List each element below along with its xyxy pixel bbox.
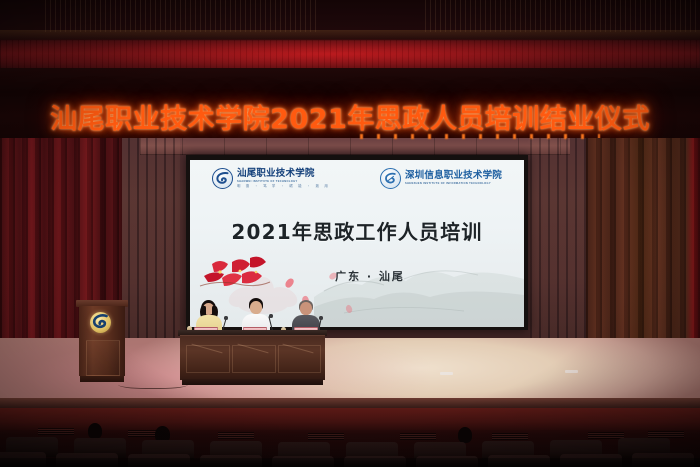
- shanwei-motto: 明 德 ・ 笃 学 ・ 砺 能 ・ 致 用: [237, 184, 330, 188]
- slide-title: 2021年思政工作人员培训: [190, 216, 524, 245]
- microphone-head: [269, 314, 273, 318]
- speaker-podium: [79, 300, 125, 384]
- banner-title-text: 汕尾职业技术学院2021年思政人员培训结业仪式: [50, 97, 650, 136]
- wall-grille: [38, 428, 74, 435]
- shenzhen-logo-text: 深圳信息职业技术学院 SHENZHEN INSTITUTE OF INFORMA…: [405, 171, 502, 185]
- ceiling-slat-panel-right: [425, 0, 700, 32]
- audience-row-shadow: [0, 458, 700, 467]
- logo-shenzhen-institute: 深圳信息职业技术学院 SHENZHEN INSTITUTE OF INFORMA…: [380, 168, 502, 189]
- wall-grille: [400, 433, 436, 440]
- led-banner: 汕尾职业技术学院2021年思政人员培训结业仪式: [0, 92, 700, 140]
- stage-curtain-right-folds: [586, 138, 700, 370]
- table-base: [182, 379, 323, 385]
- wall-grille: [648, 431, 684, 438]
- ceiling-soffit: [0, 30, 700, 40]
- shenzhen-name-cn: 深圳信息职业技术学院: [405, 171, 502, 181]
- floor-vent: [565, 370, 578, 373]
- shanwei-logo-text: 汕尾职业技术学院 SHANWEI INSTITUTE OF TECHNOLOGY…: [237, 169, 330, 188]
- podium-front-panel: [86, 340, 120, 376]
- ceiling-red-band-texture: [0, 40, 700, 70]
- podium-cable: [118, 378, 188, 389]
- podium-base: [80, 376, 124, 382]
- audience-head: [88, 423, 102, 439]
- back-wall-panel-seams: [140, 138, 570, 155]
- table-front-panel: [180, 335, 325, 380]
- crest-swoosh-glyph-icon: [90, 312, 111, 333]
- inner-curtain-right: [530, 138, 594, 343]
- shenzhen-name-en: SHENZHEN INSTITUTE OF INFORMATION TECHNO…: [405, 182, 502, 185]
- audience-head: [458, 427, 472, 443]
- slide-logo-row: 汕尾职业技术学院 SHANWEI INSTITUTE OF TECHNOLOGY…: [190, 168, 524, 189]
- shanwei-emblem-icon: [212, 168, 233, 189]
- podium-body: [79, 306, 125, 376]
- shanwei-name-cn: 汕尾职业技术学院: [237, 169, 330, 179]
- projection-screen: 汕尾职业技术学院 SHANWEI INSTITUTE OF TECHNOLOGY…: [190, 160, 524, 327]
- logo-shanwei-institute: 汕尾职业技术学院 SHANWEI INSTITUTE OF TECHNOLOGY…: [212, 168, 330, 189]
- microphone-head: [319, 316, 323, 320]
- floor-vent: [440, 372, 453, 375]
- microphone-head: [224, 316, 228, 320]
- head: [250, 301, 262, 314]
- head: [300, 302, 312, 315]
- swoosh-glyph-icon: [216, 172, 229, 186]
- auditorium-scene: 汕尾职业技术学院2021年思政人员培训结业仪式: [0, 0, 700, 467]
- swoosh-glyph-icon: [384, 172, 397, 186]
- shenzhen-emblem-icon: [380, 168, 401, 189]
- wall-grille: [492, 433, 528, 440]
- ceiling-slat-panel-left: [45, 0, 320, 32]
- house-side-wall: [0, 408, 700, 430]
- projection-screen-frame: 汕尾职业技术学院 SHANWEI INSTITUTE OF TECHNOLOGY…: [186, 155, 528, 330]
- podium-school-crest-icon: [90, 312, 111, 333]
- slide-subtitle: 广东 · 汕尾: [190, 268, 524, 284]
- head-table: [180, 330, 325, 388]
- wall-grille: [308, 433, 344, 440]
- wall-grille: [218, 432, 254, 439]
